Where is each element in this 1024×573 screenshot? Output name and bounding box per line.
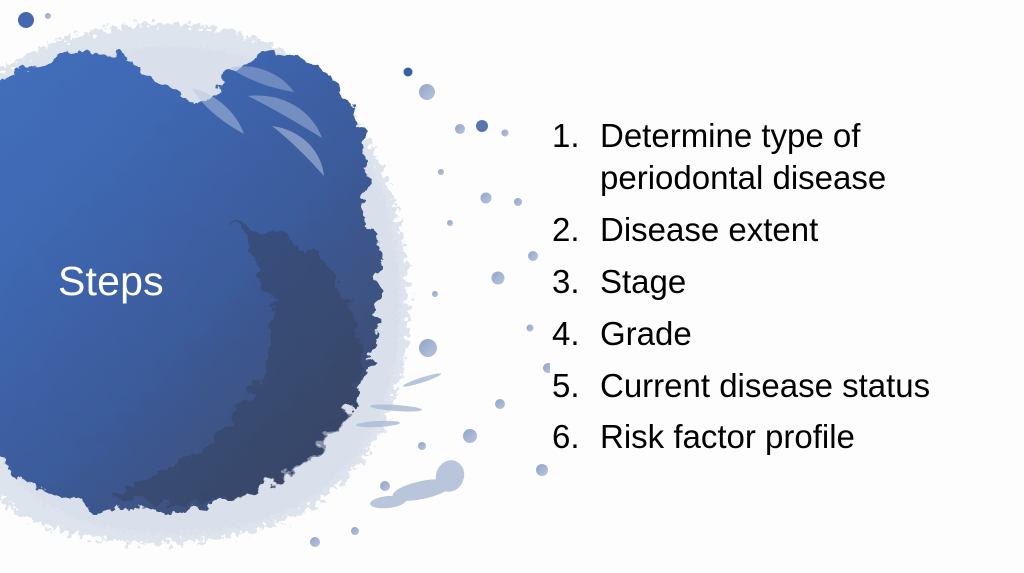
list-item-label: Determine type of periodontal disease [600, 115, 1022, 199]
list-item-label: Stage [600, 261, 1022, 303]
steps-list: 1. Determine type of periodontal disease… [512, 115, 1022, 468]
list-item: 5. Current disease status [552, 365, 1022, 407]
list-item-number: 6. [552, 416, 600, 458]
list-item-number: 5. [552, 365, 600, 407]
page-title: Steps [58, 258, 388, 305]
list-item: 6. Risk factor profile [552, 416, 1022, 458]
list-item-label: Current disease status [600, 365, 1022, 407]
list-item-label: Risk factor profile [600, 416, 1022, 458]
list-item-label: Grade [600, 313, 1022, 355]
list-item-number: 4. [552, 313, 600, 355]
list-item: 4. Grade [552, 313, 1022, 355]
list-item-number: 2. [552, 209, 600, 251]
list-item-number: 3. [552, 261, 600, 303]
list-item-label: Disease extent [600, 209, 1022, 251]
list-item-number: 1. [552, 115, 600, 157]
list-item: 1. Determine type of periodontal disease [552, 115, 1022, 199]
list-item: 3. Stage [552, 261, 1022, 303]
presentation-slide: Steps 1. Determine type of periodontal d… [0, 0, 1024, 573]
title-block: Steps [58, 258, 388, 305]
list-item: 2. Disease extent [552, 209, 1022, 251]
